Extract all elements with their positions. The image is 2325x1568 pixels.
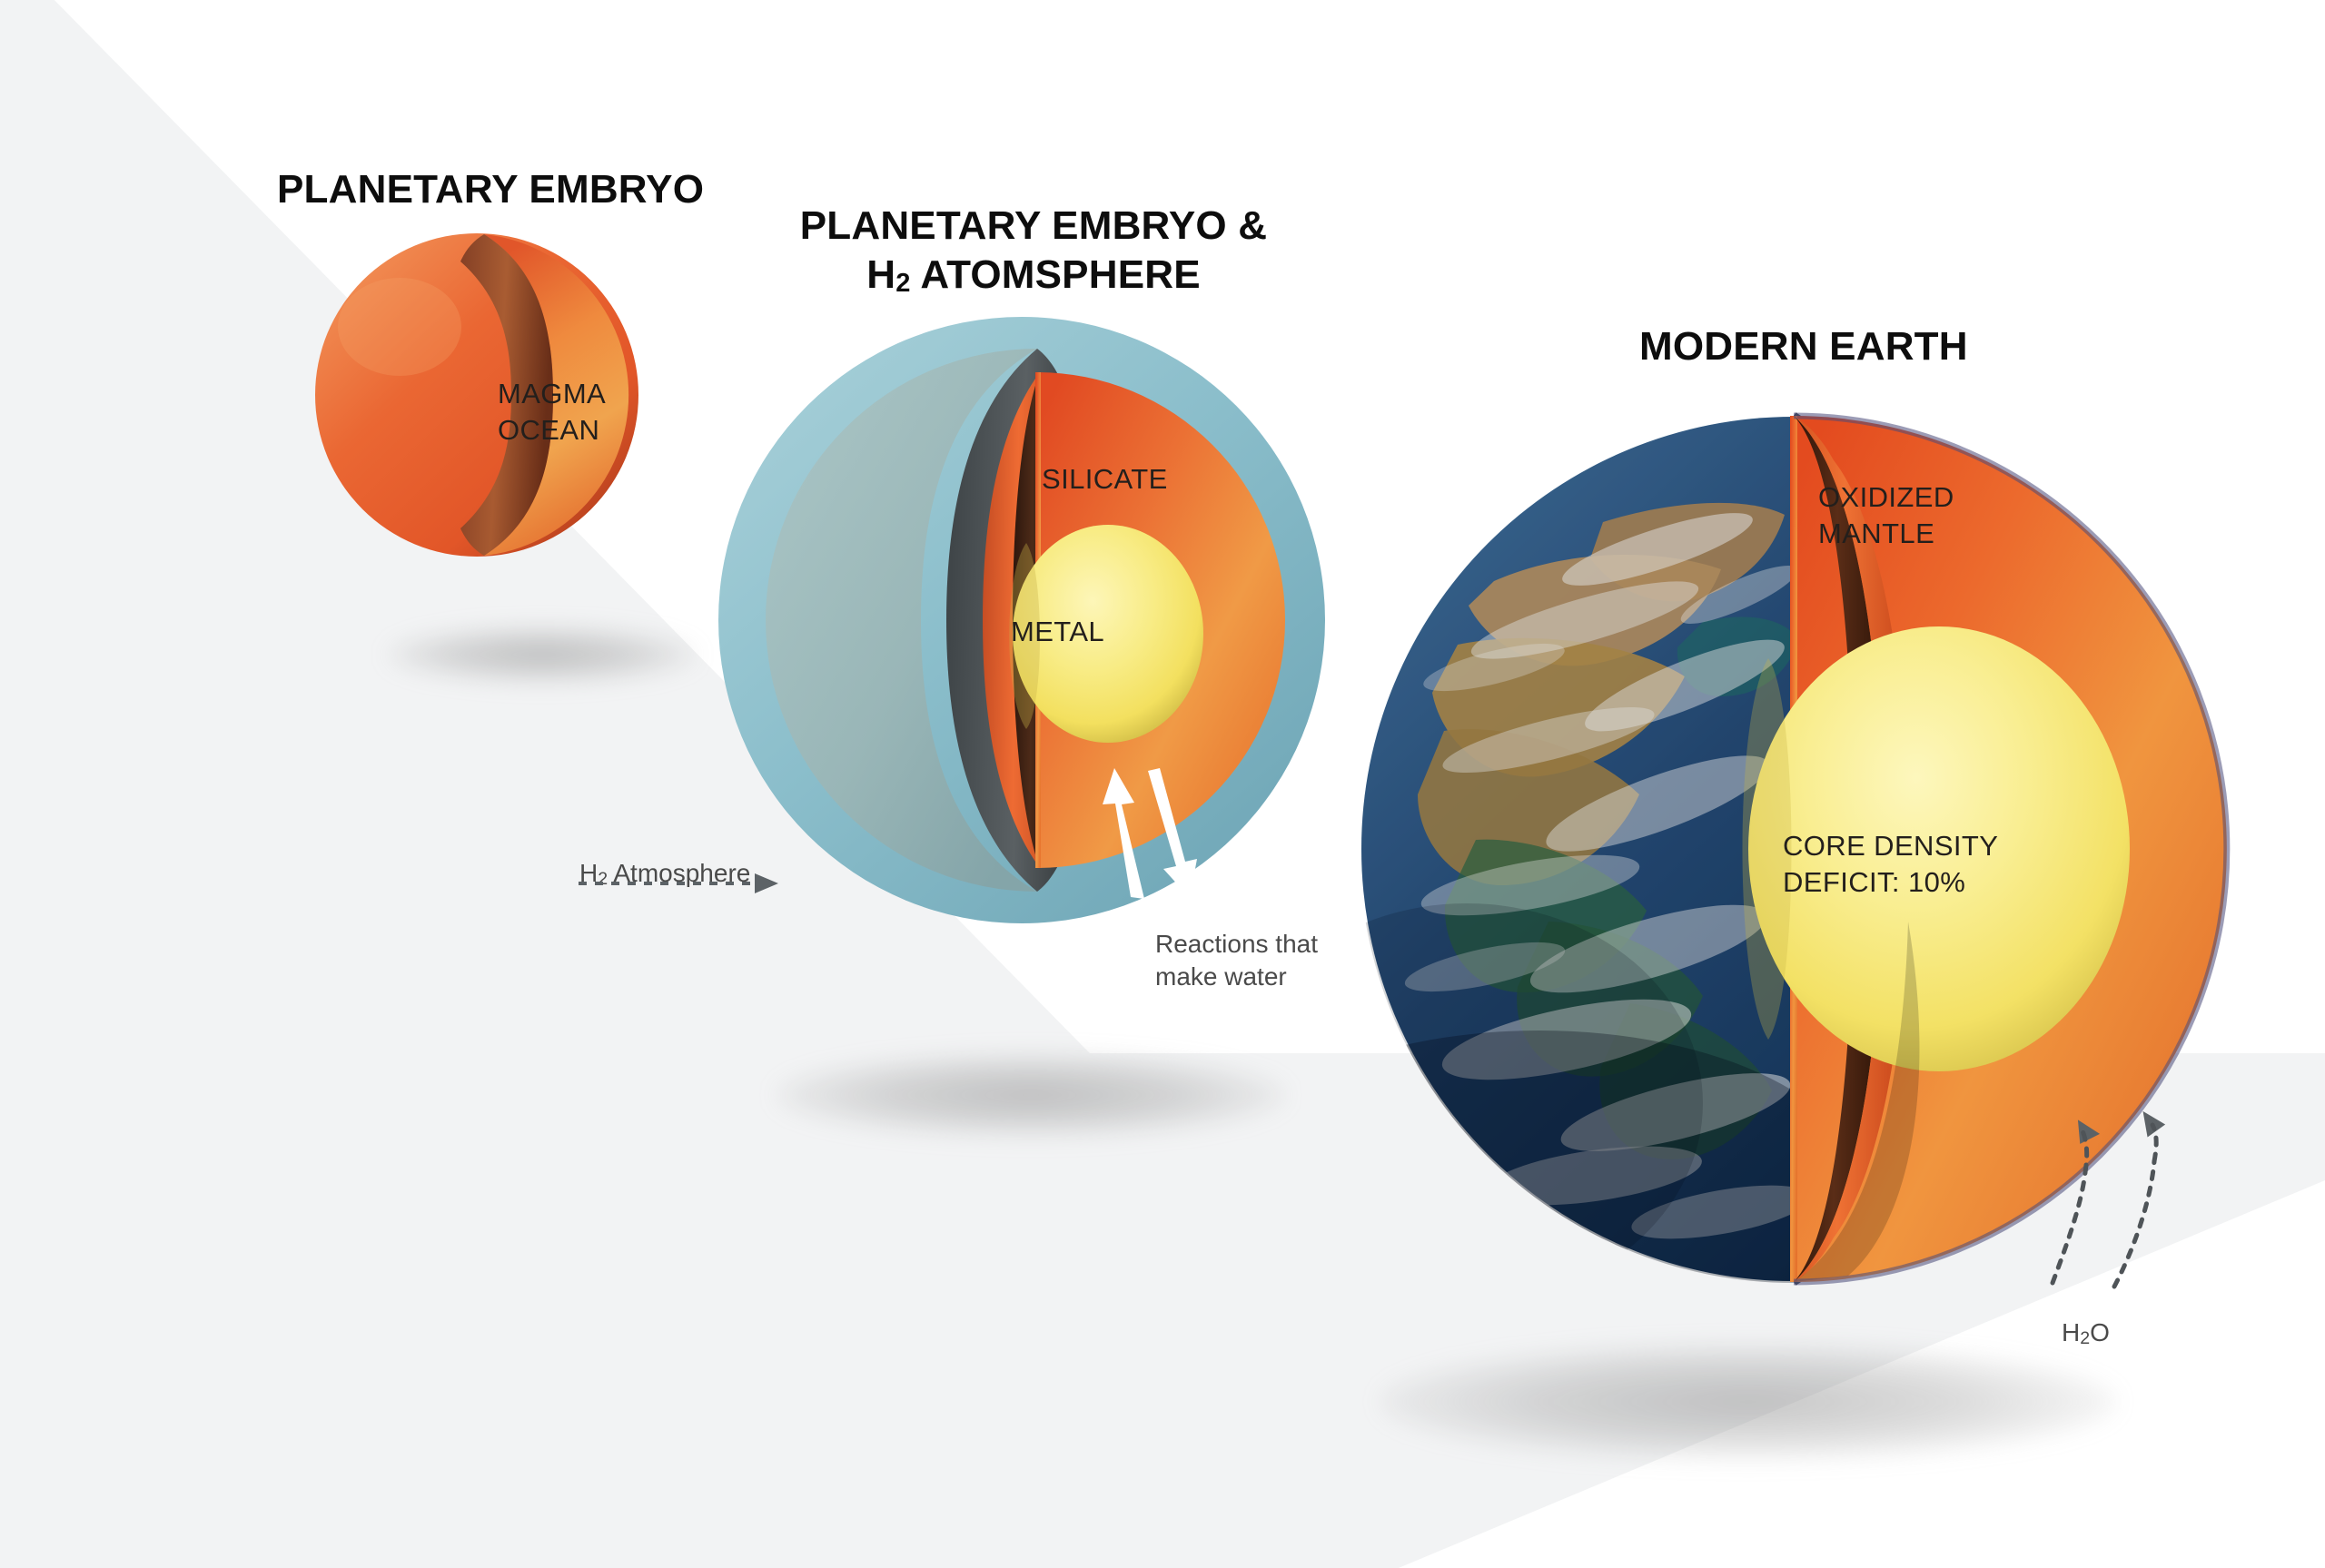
label-metal: METAL	[1011, 614, 1104, 650]
stage-title-planetary-embryo: PLANETARY EMBRYO	[277, 165, 704, 214]
diagram-canvas: PLANETARY EMBRYO PLANETARY EMBRYO & H2 A…	[0, 0, 2325, 1568]
ground-shadow-embryo-h2	[777, 1053, 1285, 1137]
label-magma-ocean: MAGMA OCEAN	[498, 376, 606, 449]
embryo-highlight	[338, 278, 461, 376]
stage-title-h2-line2: H2 ATOMSPHERE	[866, 252, 1201, 297]
stage-title-modern-earth: MODERN EARTH	[1639, 322, 1968, 371]
ground-shadow-modern-earth	[1380, 1344, 2116, 1460]
ground-shadow-embryo	[388, 626, 697, 683]
label-core-density-deficit: CORE DENSITY DEFICIT: 10%	[1783, 828, 1998, 902]
stage-title-h2-line1: PLANETARY EMBRYO &	[800, 203, 1268, 248]
callout-reactions-make-water: Reactions that make water	[1155, 928, 1318, 993]
label-silicate: SILICATE	[1042, 461, 1168, 498]
h2o-arrows-icon	[2025, 1085, 2189, 1294]
h2-atmosphere-arrow-icon	[577, 870, 786, 897]
label-oxidized-mantle: OXIDIZED MANTLE	[1818, 479, 1954, 553]
stage-title-planetary-embryo-h2: PLANETARY EMBRYO & H2 ATOMSPHERE	[797, 202, 1270, 299]
callout-h2o: H2O	[2062, 1284, 2110, 1349]
